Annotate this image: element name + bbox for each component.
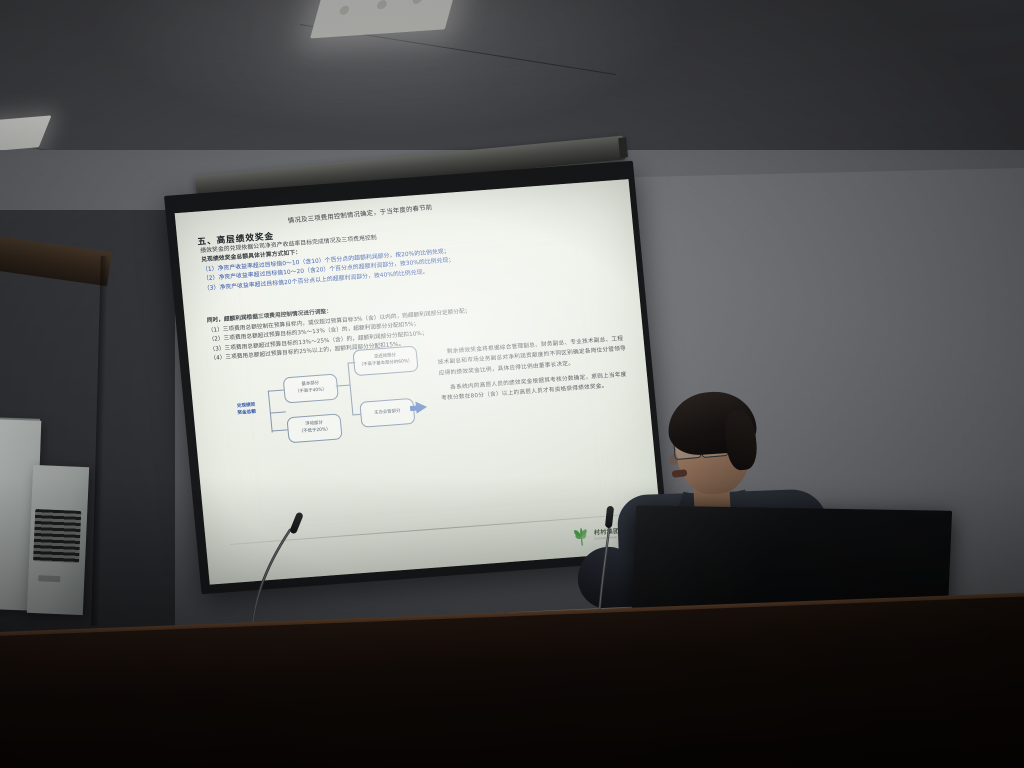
flow-box-line2: （不高于40%）	[295, 387, 327, 396]
flow-box-basic: 基本部分 （不高于40%）	[283, 374, 339, 404]
conference-room-photo: 情况及三项费用控制情况确定，于当年度的春节前 五、高层绩效奖金 绩效奖金的兑现依…	[0, 0, 1024, 768]
flow-connector	[272, 429, 288, 431]
air-conditioner-brand-label	[38, 575, 60, 582]
flow-box-line2: （不低于20%）	[299, 427, 331, 436]
flow-box-business: 主办业管部分	[359, 398, 415, 428]
flow-box-total-reserve: 总还效部分 （不高于基本部分的60%）	[352, 345, 418, 376]
slide-body-block: 绩效奖金的兑现依据公司净资产收益率目标完成情况及三项费用控制 兑现绩效奖金总额具…	[200, 216, 622, 294]
flow-connector	[348, 363, 354, 415]
slide-flow-diagram: 兑现绩效 奖金总额 基本部分 （不高于40%） 浮动部分	[220, 361, 438, 468]
air-conditioner-vent-icon	[33, 509, 81, 563]
flow-root-label: 兑现绩效 奖金总额	[223, 401, 270, 419]
flow-box-float: 浮动部分 （不低于20%）	[286, 413, 342, 443]
flow-box-line1: 主办业管部分	[374, 409, 401, 418]
flow-box-line2: （不高于基本部分的60%）	[359, 359, 413, 370]
flow-connector	[268, 390, 284, 392]
flow-connector	[352, 414, 360, 416]
flow-connector	[270, 411, 286, 413]
right-arrow-icon	[415, 401, 427, 414]
air-conditioner-unit[interactable]	[27, 465, 89, 615]
